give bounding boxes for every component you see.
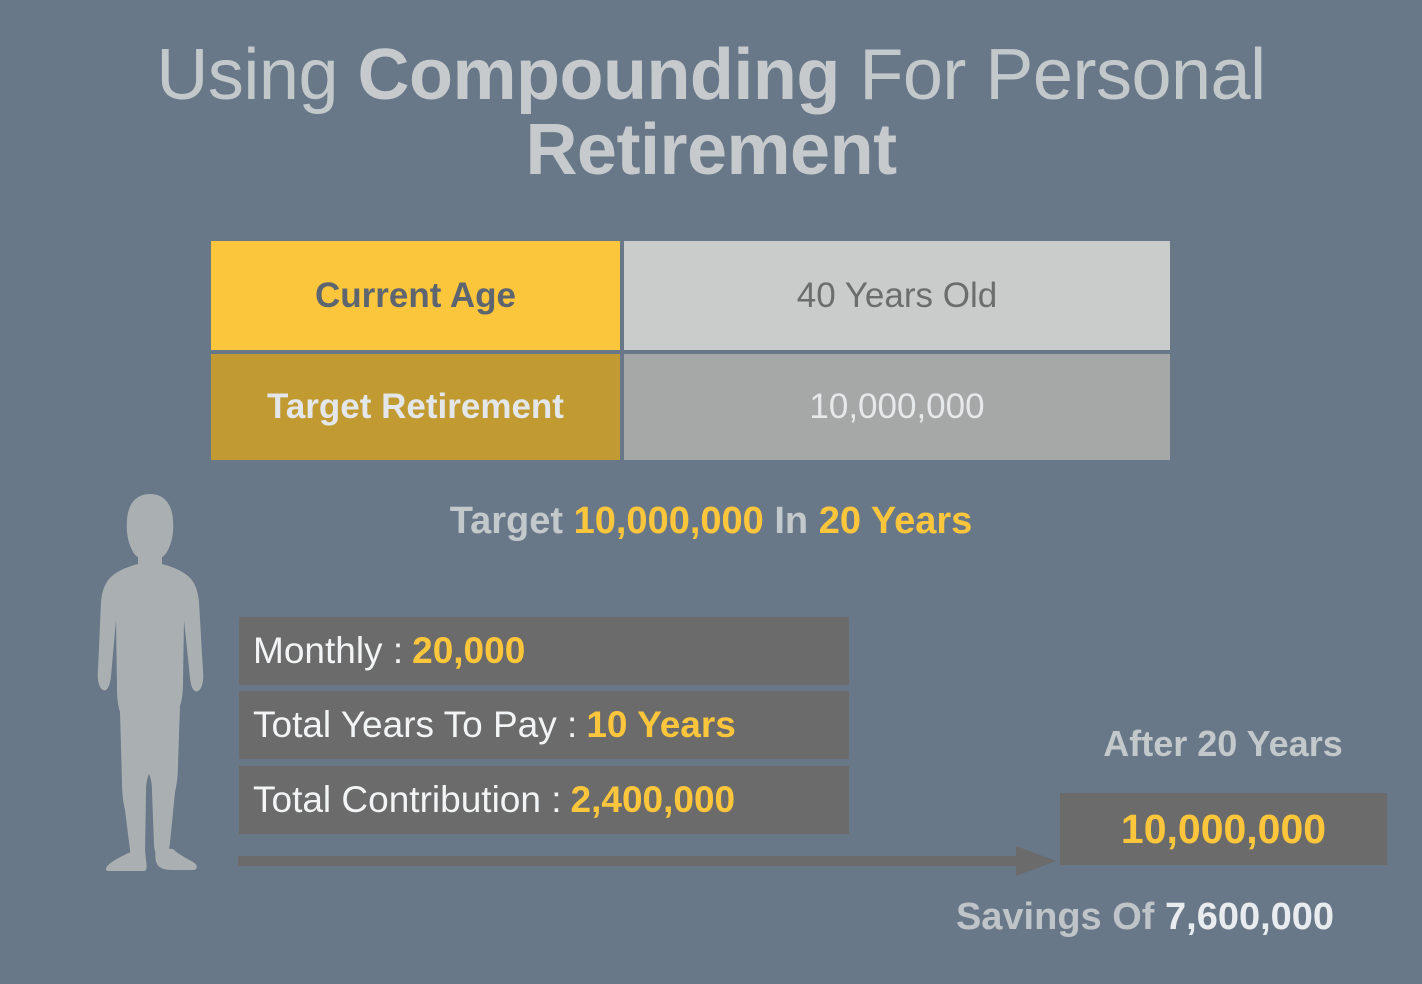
table-cell-value-target-retirement: 10,000,000 bbox=[624, 354, 1170, 460]
headline-middle: In bbox=[764, 500, 819, 542]
table-cell-label-current-age: Current Age bbox=[211, 241, 620, 350]
savings-prefix: Savings Of bbox=[956, 896, 1165, 938]
page-title: Using Compounding For Personal Retiremen… bbox=[0, 38, 1422, 188]
headline-amount: 10,000,000 bbox=[574, 500, 764, 542]
table-row: Current Age 40 Years Old bbox=[211, 241, 1170, 350]
after-period-label: After 20 Years bbox=[1050, 723, 1396, 765]
title-emphasis: Compounding bbox=[358, 35, 840, 115]
info-table: Current Age 40 Years Old Target Retireme… bbox=[211, 241, 1170, 460]
title-line-2: Retirement bbox=[0, 113, 1422, 188]
person-silhouette-icon bbox=[86, 492, 216, 872]
headline-prefix: Target bbox=[450, 500, 574, 542]
right-arrow-icon bbox=[238, 845, 1056, 877]
table-row: Target Retirement 10,000,000 bbox=[211, 354, 1170, 460]
after-value: 10,000,000 bbox=[1121, 806, 1326, 853]
detail-row-monthly: Monthly : 20,000 bbox=[239, 617, 849, 685]
detail-value: 10 Years bbox=[586, 704, 736, 746]
after-value-box: 10,000,000 bbox=[1060, 793, 1387, 865]
title-line-1: Using Compounding For Personal bbox=[0, 38, 1422, 113]
headline-duration: 20 Years bbox=[819, 500, 973, 542]
title-prefix: Using bbox=[156, 35, 357, 115]
detail-row-total-contribution: Total Contribution : 2,400,000 bbox=[239, 766, 849, 834]
table-cell-label-target-retirement: Target Retirement bbox=[211, 354, 620, 460]
title-suffix: For Personal bbox=[840, 35, 1266, 115]
detail-label: Total Years To Pay : bbox=[253, 704, 577, 746]
savings-footer: Savings Of 7,600,000 bbox=[900, 896, 1390, 939]
table-cell-value-current-age: 40 Years Old bbox=[624, 241, 1170, 350]
detail-label: Total Contribution : bbox=[253, 779, 562, 821]
detail-value: 2,400,000 bbox=[571, 779, 736, 821]
savings-amount: 7,600,000 bbox=[1165, 896, 1334, 938]
detail-value: 20,000 bbox=[412, 630, 525, 672]
detail-row-total-years-to-pay: Total Years To Pay : 10 Years bbox=[239, 691, 849, 759]
detail-label: Monthly : bbox=[253, 630, 403, 672]
